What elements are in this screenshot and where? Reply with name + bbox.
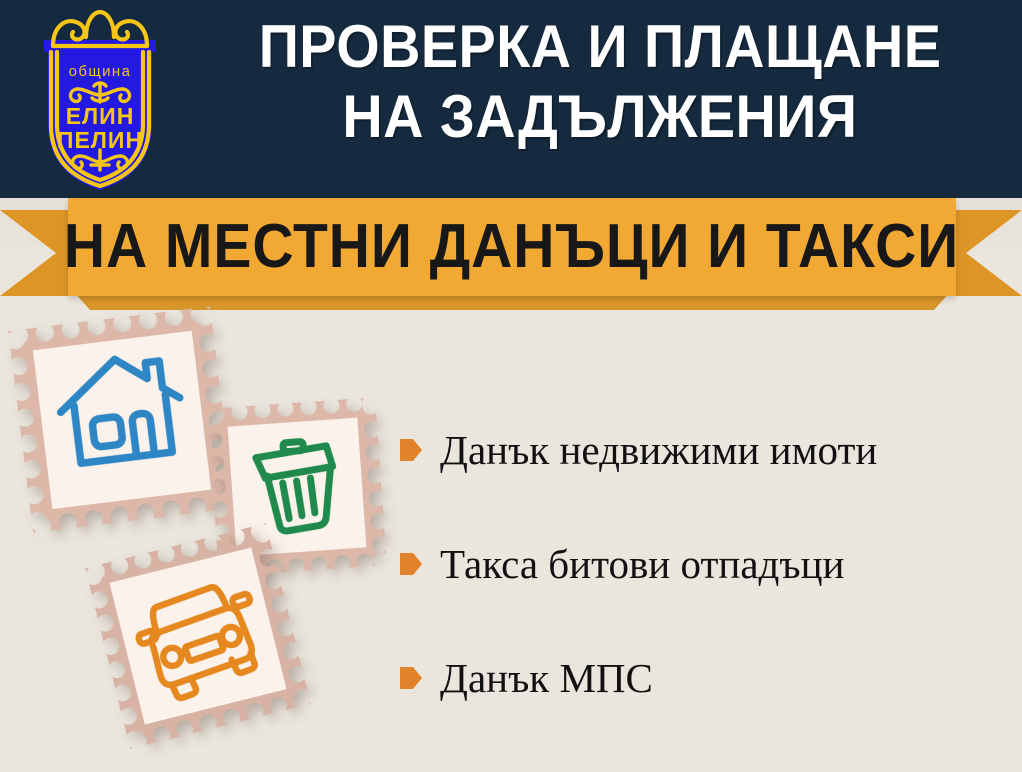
logo-word-obshtina: община	[69, 63, 132, 80]
title-line-1: ПРОВЕРКА И ПЛАЩАНЕ	[259, 16, 942, 78]
list-item[interactable]: Данък недвижими имоти	[400, 420, 1010, 480]
title-line-2: НА ЗАДЪЛЖЕНИЯ	[342, 86, 857, 148]
logo-word-elin: ЕЛИН	[66, 103, 135, 129]
arrow-bullet-icon	[400, 551, 422, 577]
list-item[interactable]: Данък МПС	[400, 648, 1010, 708]
header-bar: община ЕЛИН ПЕЛИН ПРОВЕРКА И ПЛАЩАНЕ НА …	[0, 0, 1022, 198]
list-item-label: Такса битови отпадъци	[440, 540, 844, 588]
ribbon-text: НА МЕСТНИ ДАНЪЦИ И ТАКСИ	[64, 216, 959, 278]
page-title: ПРОВЕРКА И ПЛАЩАНЕ НА ЗАДЪЛЖЕНИЯ	[190, 16, 1010, 186]
list-item-label: Данък недвижими имоти	[440, 426, 877, 474]
logo-word-pelin: ПЕЛИН	[57, 127, 143, 153]
subtitle-ribbon: НА МЕСТНИ ДАНЪЦИ И ТАКСИ	[0, 198, 1022, 308]
tax-type-list: Данък недвижими имоти Такса битови отпад…	[400, 420, 1010, 762]
municipality-logo: община ЕЛИН ПЕЛИН	[20, 6, 180, 196]
poster-canvas: община ЕЛИН ПЕЛИН ПРОВЕРКА И ПЛАЩАНЕ НА …	[0, 0, 1022, 772]
ribbon-banner: НА МЕСТНИ ДАНЪЦИ И ТАКСИ	[68, 198, 956, 296]
list-item[interactable]: Такса битови отпадъци	[400, 534, 1010, 594]
arrow-bullet-icon	[400, 665, 422, 691]
list-item-label: Данък МПС	[440, 654, 653, 702]
arrow-bullet-icon	[400, 437, 422, 463]
